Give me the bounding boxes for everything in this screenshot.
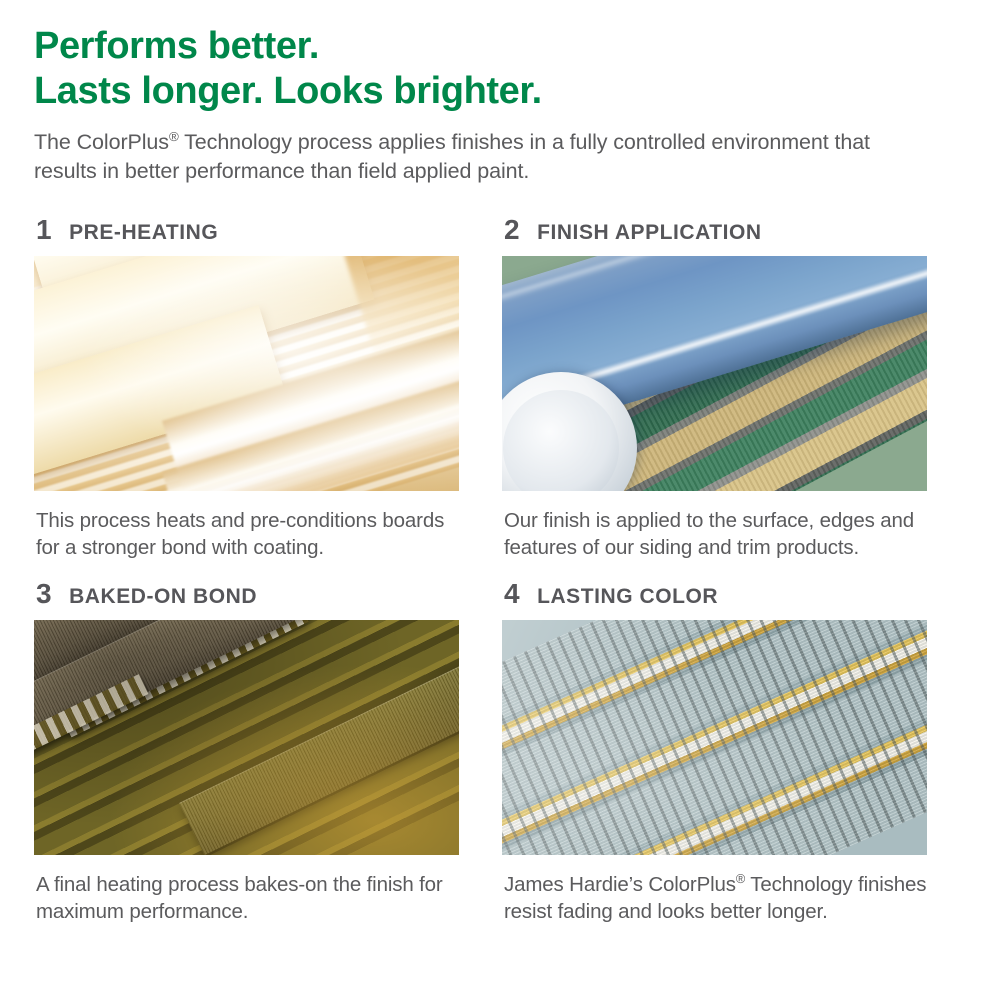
subhead-text-lead: The ColorPlus	[34, 130, 169, 154]
step-title-finish-application: FINISH APPLICATION	[537, 222, 762, 243]
step-heading-pre-heating: 1 PRE-HEATING	[36, 216, 496, 246]
caption-text-lead: James Hardie’s ColorPlus	[504, 873, 736, 896]
process-steps-grid: 1 PRE-HEATING This process heats and pre…	[34, 216, 964, 925]
baked-on-bond-photo	[34, 620, 459, 855]
oven-glow-overlay	[34, 620, 459, 855]
finish-application-photo	[502, 256, 927, 491]
registered-trademark-symbol: ®	[736, 871, 745, 886]
step-number-1: 1	[36, 216, 51, 244]
headline-line-1: Performs better.	[34, 24, 964, 69]
registered-trademark-symbol: ®	[169, 129, 179, 144]
page-title: Performs better. Lasts longer. Looks bri…	[34, 24, 964, 114]
finish-application-scene	[502, 256, 927, 491]
step-title-baked-on-bond: BAKED-ON BOND	[69, 586, 257, 607]
step-caption-pre-heating: This process heats and pre-conditions bo…	[36, 507, 468, 562]
step-card-pre-heating: 1 PRE-HEATING This process heats and pre…	[34, 216, 496, 562]
step-heading-baked-on-bond: 3 BAKED-ON BOND	[36, 580, 496, 610]
step-card-baked-on-bond: 3 BAKED-ON BOND A final heating proce	[34, 580, 496, 926]
colorplus-process-infographic: Performs better. Lasts longer. Looks bri…	[0, 0, 1000, 1000]
roller-end-cap-inner	[503, 390, 619, 491]
step-number-3: 3	[36, 580, 51, 608]
step-card-lasting-color: 4 LASTING COLOR James Hardie’s ColorPlus…	[502, 580, 964, 926]
step-caption-baked-on-bond: A final heating process bakes-on the fin…	[36, 871, 468, 926]
baked-on-bond-scene	[34, 620, 459, 855]
step-heading-lasting-color: 4 LASTING COLOR	[504, 580, 964, 610]
step-card-finish-application: 2 FINISH APPLICATION Our finish is appli…	[502, 216, 964, 562]
light-sheen-overlay	[502, 620, 927, 855]
lasting-color-photo	[502, 620, 927, 855]
header: Performs better. Lasts longer. Looks bri…	[34, 24, 964, 187]
pre-heating-photo	[34, 256, 459, 491]
subhead-paragraph: The ColorPlus® Technology process applie…	[34, 128, 884, 187]
step-caption-lasting-color: James Hardie’s ColorPlus® Technology fin…	[504, 871, 936, 926]
roller-top-highlight	[502, 256, 927, 315]
pre-heating-scene	[34, 256, 459, 491]
step-title-lasting-color: LASTING COLOR	[537, 586, 718, 607]
step-caption-finish-application: Our finish is applied to the surface, ed…	[504, 507, 936, 562]
step-heading-finish-application: 2 FINISH APPLICATION	[504, 216, 964, 246]
headline-line-2: Lasts longer. Looks brighter.	[34, 69, 964, 114]
light-sheen-overlay	[34, 256, 459, 491]
step-number-4: 4	[504, 580, 519, 608]
lasting-color-scene	[502, 620, 927, 855]
step-number-2: 2	[504, 216, 519, 244]
step-title-pre-heating: PRE-HEATING	[69, 222, 218, 243]
